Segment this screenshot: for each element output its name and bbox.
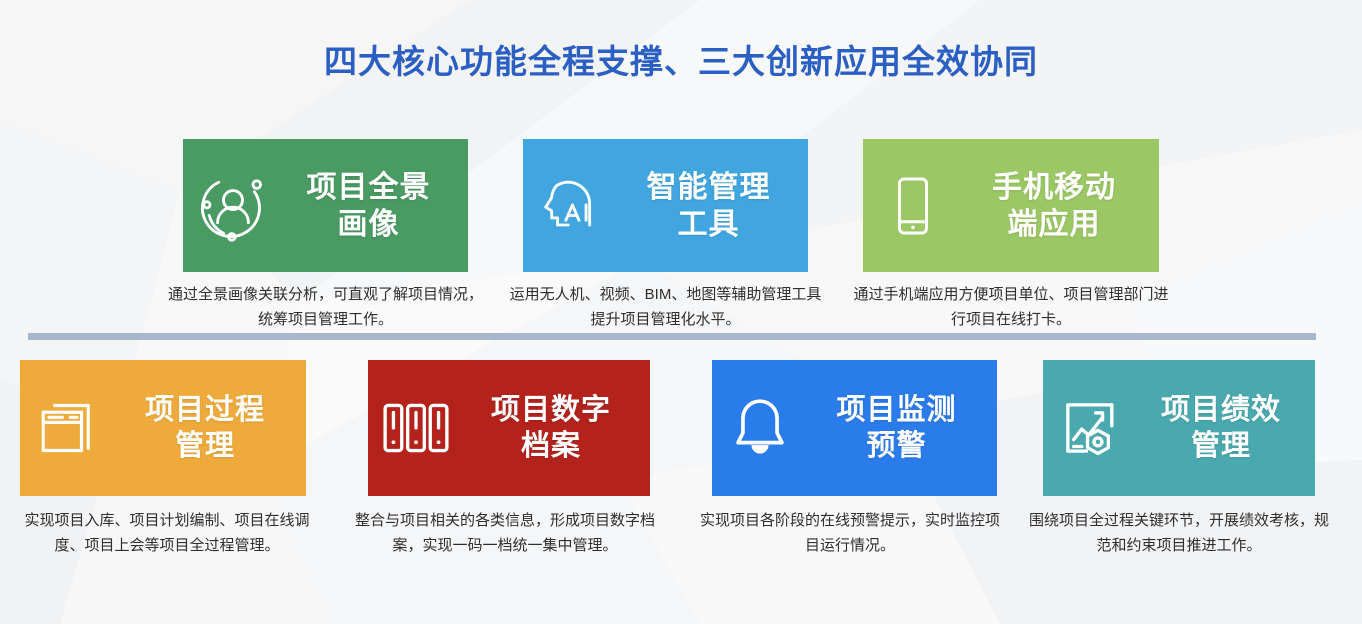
stacked-documents-icon xyxy=(20,392,116,464)
feature-caption-process-management: 实现项目入库、项目计划编制、项目在线调度、项目上会等项目全过程管理。 xyxy=(12,508,322,558)
feature-caption-project-panorama: 通过全景画像关联分析，可直观了解项目情况，统筹项目管理工作。 xyxy=(168,282,483,332)
feature-card-smart-management-tools[interactable]: 智能管理 工具 xyxy=(523,139,808,272)
feature-card-label: 项目全景 画像 xyxy=(283,169,468,243)
feature-card-label: 项目过程 管理 xyxy=(116,392,306,464)
feature-caption-digital-archive: 整合与项目相关的各类信息，形成项目数字档案，实现一码一档统一集中管理。 xyxy=(355,508,655,558)
feature-card-label: 手机移动 端应用 xyxy=(963,169,1159,243)
feature-card-label: 项目数字 档案 xyxy=(464,392,650,464)
feature-card-mobile-app[interactable]: 手机移动 端应用 xyxy=(863,139,1159,272)
feature-caption-performance-management: 围绕项目全过程关键环节，开展绩效考核，规范和约束项目推进工作。 xyxy=(1022,508,1336,558)
section-divider xyxy=(28,333,1316,340)
feature-caption-monitoring-alert: 实现项目各阶段的在线预警提示，实时监控项目运行情况。 xyxy=(700,508,1000,558)
performance-chart-icon xyxy=(1043,391,1139,465)
feature-caption-mobile-app: 通过手机端应用方便项目单位、项目管理部门进行项目在线打卡。 xyxy=(850,282,1172,332)
feature-card-process-management[interactable]: 项目过程 管理 xyxy=(20,360,306,496)
page-title: 四大核心功能全程支撑、三大创新应用全效协同 xyxy=(0,40,1362,84)
ai-head-icon xyxy=(523,168,623,244)
mobile-phone-icon xyxy=(863,170,963,242)
bell-alert-icon xyxy=(712,389,808,467)
archive-binders-icon xyxy=(368,390,464,466)
feature-card-label: 智能管理 工具 xyxy=(623,169,808,243)
feature-card-label: 项目监测 预警 xyxy=(808,392,997,464)
feature-card-monitoring-alert[interactable]: 项目监测 预警 xyxy=(712,360,997,496)
feature-card-label: 项目绩效 管理 xyxy=(1139,392,1315,464)
feature-card-performance-management[interactable]: 项目绩效 管理 xyxy=(1043,360,1315,496)
user-portrait-circle-icon xyxy=(183,168,283,244)
feature-caption-smart-management-tools: 运用无人机、视频、BIM、地图等辅助管理工具提升项目管理化水平。 xyxy=(508,282,823,332)
feature-card-project-panorama[interactable]: 项目全景 画像 xyxy=(183,139,468,272)
feature-card-digital-archive[interactable]: 项目数字 档案 xyxy=(368,360,650,496)
